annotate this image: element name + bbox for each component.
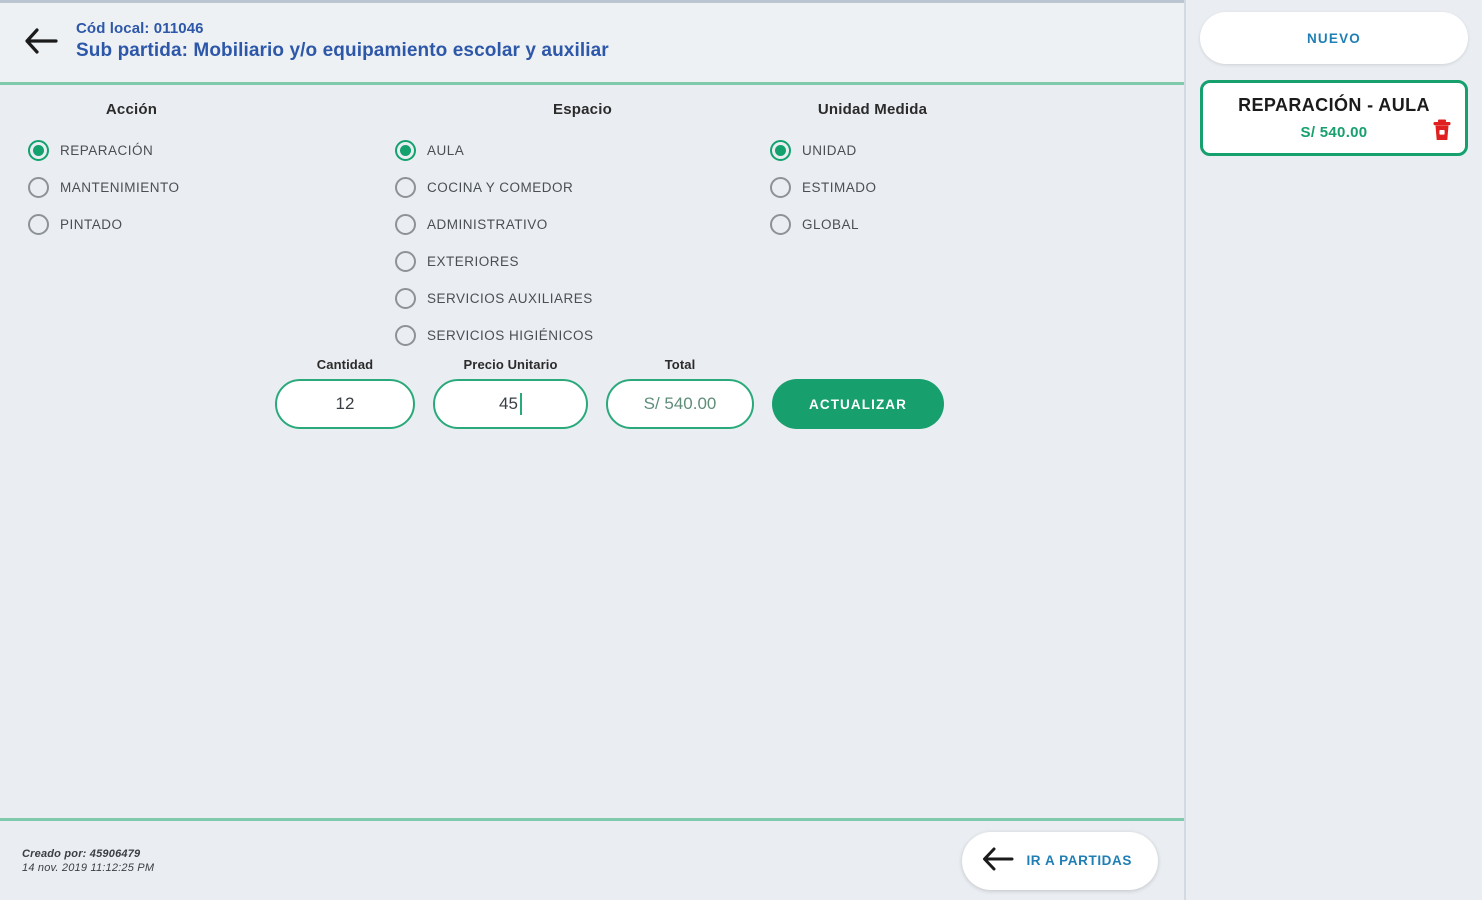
precio-unitario-value: 45 bbox=[499, 394, 518, 414]
trash-icon[interactable] bbox=[1433, 119, 1451, 141]
amount-fields-row: Cantidad 12 Precio Unitario 45 Total S/ … bbox=[275, 357, 944, 429]
field-total: Total S/ 540.00 bbox=[606, 357, 754, 429]
radio-accion-mantenimiento[interactable]: MANTENIMIENTO bbox=[28, 169, 385, 206]
radio-label: GLOBAL bbox=[802, 217, 859, 232]
field-cantidad: Cantidad 12 bbox=[275, 357, 415, 429]
radio-label: SERVICIOS HIGIÉNICOS bbox=[427, 328, 594, 343]
radio-label: REPARACIÓN bbox=[60, 143, 153, 158]
created-at-label: 14 nov. 2019 11:12:25 PM bbox=[22, 862, 154, 874]
radio-indicator-icon bbox=[395, 140, 416, 161]
group-title-accion: Acción bbox=[28, 101, 385, 118]
radio-label: COCINA Y COMEDOR bbox=[427, 180, 573, 195]
header-text-block: Cód local: 011046 Sub partida: Mobiliari… bbox=[76, 20, 609, 62]
radio-unidad-global[interactable]: GLOBAL bbox=[770, 206, 1160, 243]
radio-accion-reparacion[interactable]: REPARACIÓN bbox=[28, 132, 385, 169]
radio-espacio-exteriores[interactable]: EXTERIORES bbox=[395, 243, 770, 280]
created-by-label: Creado por: 45906479 bbox=[22, 848, 154, 860]
ir-a-partidas-label: IR A PARTIDAS bbox=[1026, 853, 1132, 868]
total-label: Total bbox=[665, 357, 696, 372]
radio-indicator-icon bbox=[395, 251, 416, 272]
radio-indicator-icon bbox=[395, 177, 416, 198]
nuevo-button[interactable]: NUEVO bbox=[1200, 12, 1468, 64]
back-arrow-icon bbox=[982, 847, 1014, 874]
back-arrow-icon[interactable] bbox=[14, 14, 68, 68]
total-value-display: S/ 540.00 bbox=[606, 379, 754, 429]
precio-unitario-label: Precio Unitario bbox=[464, 357, 558, 372]
radio-group-accion: Acción REPARACIÓN MANTENIMIENTO PINTADO bbox=[0, 101, 385, 354]
app-root: Cód local: 011046 Sub partida: Mobiliari… bbox=[0, 0, 1482, 900]
radio-unidad-unidad[interactable]: UNIDAD bbox=[770, 132, 1160, 169]
actualizar-button[interactable]: ACTUALIZAR bbox=[772, 379, 944, 429]
radio-indicator-icon bbox=[770, 140, 791, 161]
cantidad-label: Cantidad bbox=[317, 357, 373, 372]
page-footer: Creado por: 45906479 14 nov. 2019 11:12:… bbox=[0, 818, 1184, 900]
group-title-espacio: Espacio bbox=[395, 101, 770, 118]
radio-espacio-cocina-comedor[interactable]: COCINA Y COMEDOR bbox=[395, 169, 770, 206]
radio-group-unidad-medida: Unidad Medida UNIDAD ESTIMADO GLOBAL bbox=[770, 101, 1160, 354]
radio-unidad-estimado[interactable]: ESTIMADO bbox=[770, 169, 1160, 206]
field-precio-unitario: Precio Unitario 45 bbox=[433, 357, 588, 429]
list-item-title: REPARACIÓN - AULA bbox=[1213, 95, 1455, 116]
radio-indicator-icon bbox=[395, 288, 416, 309]
main-pane: Cód local: 011046 Sub partida: Mobiliari… bbox=[0, 0, 1186, 900]
radio-label: SERVICIOS AUXILIARES bbox=[427, 291, 593, 306]
radio-label: EXTERIORES bbox=[427, 254, 519, 269]
page-header: Cód local: 011046 Sub partida: Mobiliari… bbox=[0, 0, 1184, 85]
radio-indicator-icon bbox=[770, 177, 791, 198]
radio-label: ESTIMADO bbox=[802, 180, 877, 195]
form-body: Acción REPARACIÓN MANTENIMIENTO PINTADO bbox=[0, 85, 1184, 818]
radio-espacio-aula[interactable]: AULA bbox=[395, 132, 770, 169]
radio-label: ADMINISTRATIVO bbox=[427, 217, 548, 232]
ir-a-partidas-button[interactable]: IR A PARTIDAS bbox=[962, 832, 1158, 890]
radio-espacio-servicios-higienicos[interactable]: SERVICIOS HIGIÉNICOS bbox=[395, 317, 770, 354]
local-code-label: Cód local: 011046 bbox=[76, 20, 609, 37]
radio-group-espacio: Espacio AULA COCINA Y COMEDOR ADMINISTRA… bbox=[385, 101, 770, 354]
total-value: S/ 540.00 bbox=[644, 394, 717, 414]
list-item[interactable]: REPARACIÓN - AULA S/ 540.00 bbox=[1200, 80, 1468, 156]
record-metadata: Creado por: 45906479 14 nov. 2019 11:12:… bbox=[22, 848, 154, 874]
radio-accion-pintado[interactable]: PINTADO bbox=[28, 206, 385, 243]
radio-indicator-icon bbox=[28, 214, 49, 235]
radio-indicator-icon bbox=[395, 325, 416, 346]
radio-espacio-servicios-auxiliares[interactable]: SERVICIOS AUXILIARES bbox=[395, 280, 770, 317]
radio-label: AULA bbox=[427, 143, 464, 158]
radio-indicator-icon bbox=[770, 214, 791, 235]
precio-unitario-input[interactable]: 45 bbox=[433, 379, 588, 429]
page-title: Sub partida: Mobiliario y/o equipamiento… bbox=[76, 40, 609, 62]
group-title-unidad-medida: Unidad Medida bbox=[770, 101, 1160, 118]
radio-indicator-icon bbox=[28, 140, 49, 161]
radio-indicator-icon bbox=[28, 177, 49, 198]
cantidad-value: 12 bbox=[336, 394, 355, 414]
radio-label: MANTENIMIENTO bbox=[60, 180, 180, 195]
text-caret bbox=[520, 393, 522, 415]
radio-groups: Acción REPARACIÓN MANTENIMIENTO PINTADO bbox=[0, 85, 1184, 354]
list-item-amount: S/ 540.00 bbox=[1213, 124, 1455, 141]
sidebar: NUEVO REPARACIÓN - AULA S/ 540.00 bbox=[1186, 0, 1482, 900]
radio-label: PINTADO bbox=[60, 217, 123, 232]
radio-espacio-administrativo[interactable]: ADMINISTRATIVO bbox=[395, 206, 770, 243]
radio-indicator-icon bbox=[395, 214, 416, 235]
radio-label: UNIDAD bbox=[802, 143, 857, 158]
cantidad-input[interactable]: 12 bbox=[275, 379, 415, 429]
